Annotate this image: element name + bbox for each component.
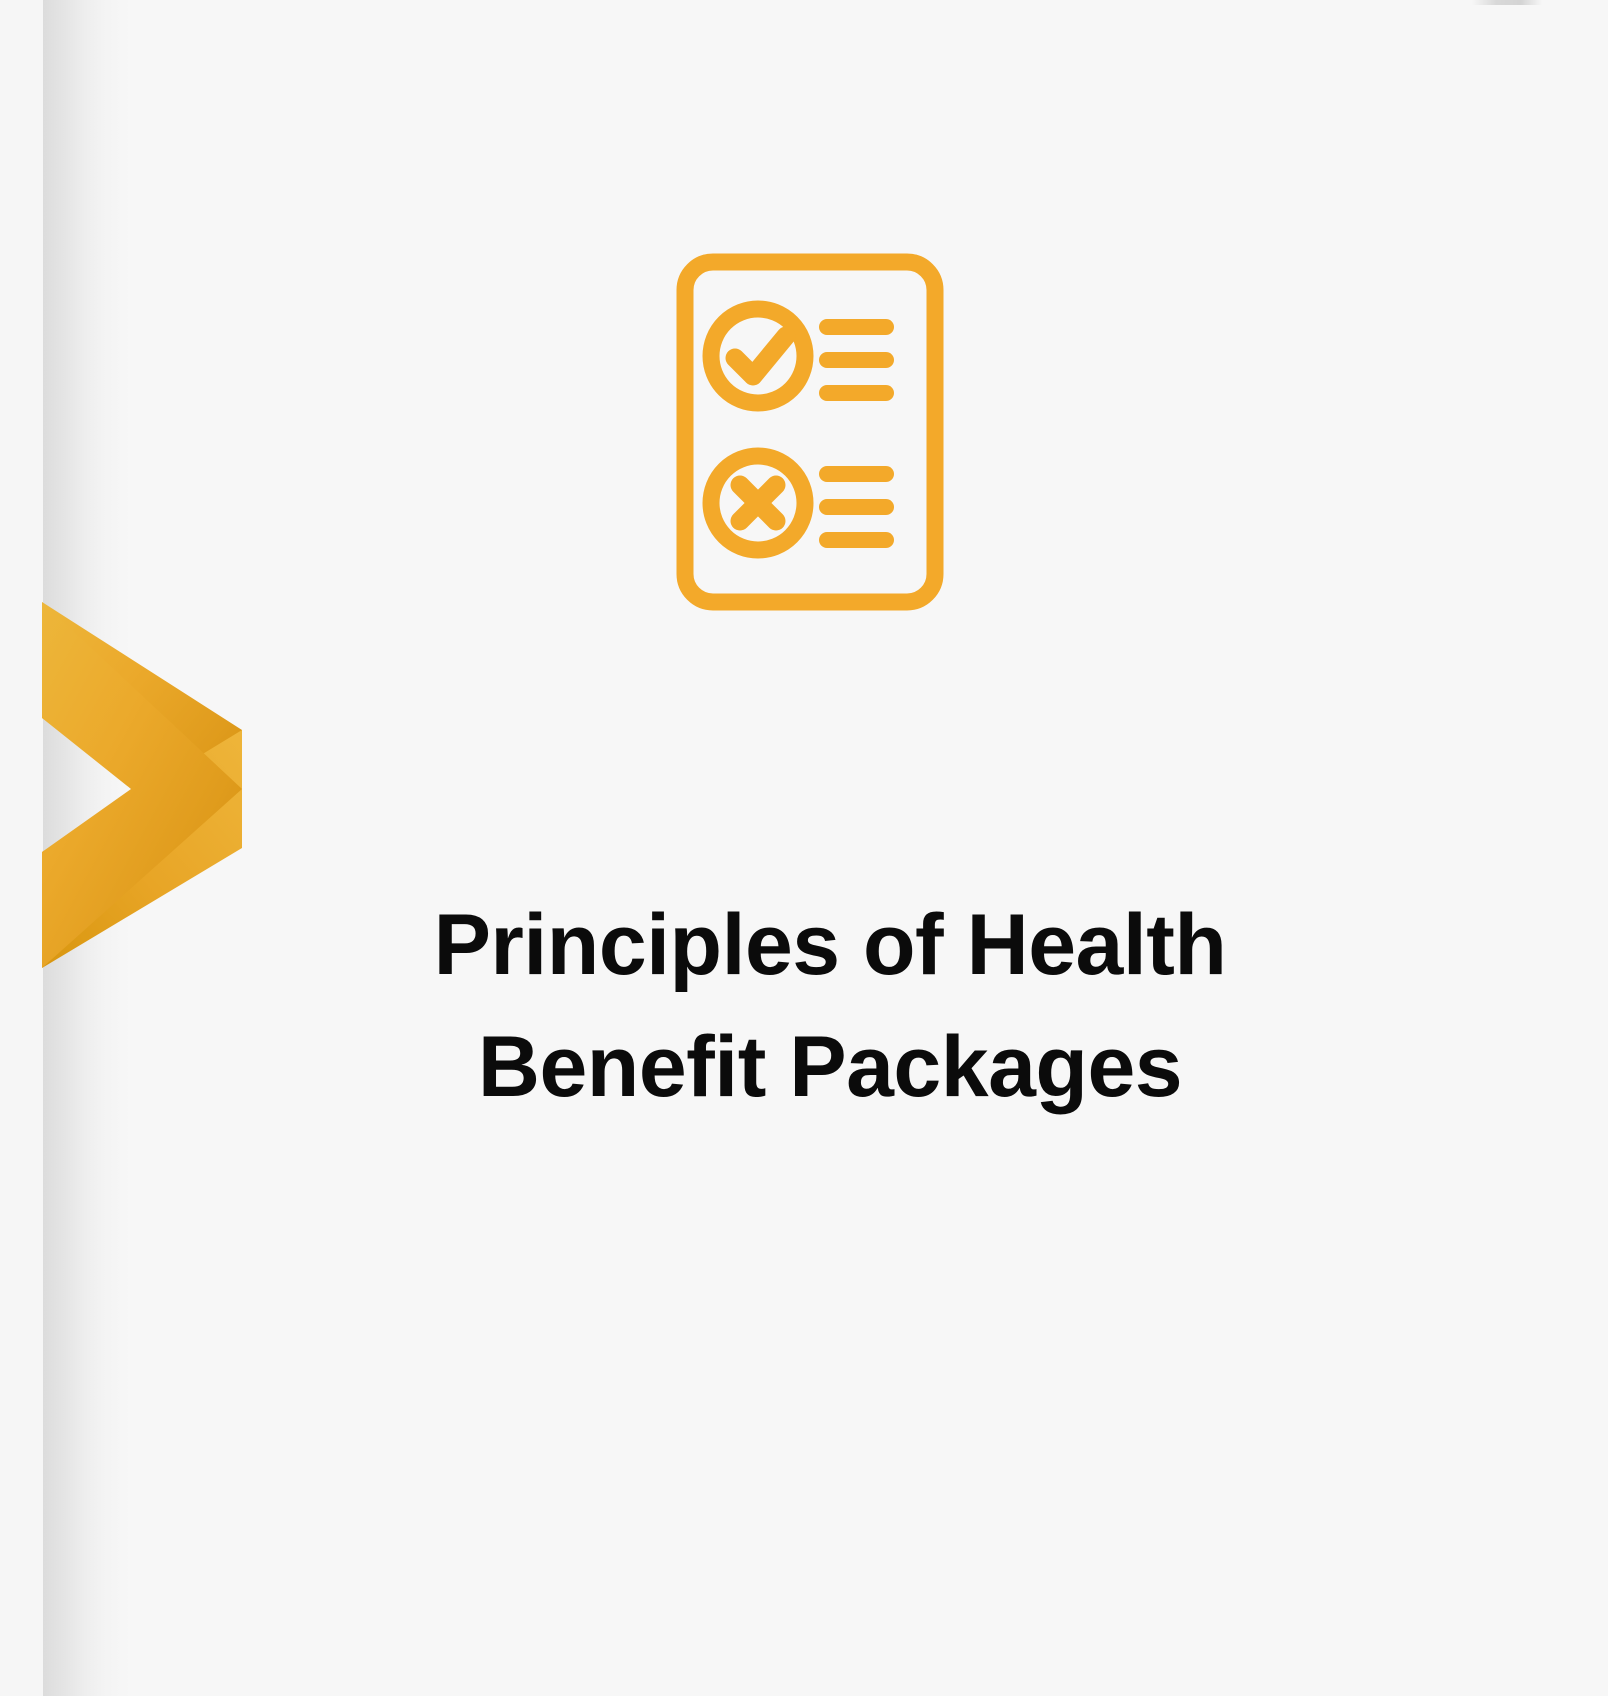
check-mark-icon bbox=[735, 336, 786, 376]
page-title: Principles of Health Benefit Packages bbox=[300, 884, 1360, 1128]
checklist-document-icon bbox=[660, 246, 960, 618]
document-outline bbox=[685, 262, 935, 602]
top-edge-streak bbox=[1472, 0, 1542, 5]
chevron-right-decoration bbox=[0, 590, 260, 980]
slide-canvas: Principles of Health Benefit Packages bbox=[0, 0, 1608, 1696]
